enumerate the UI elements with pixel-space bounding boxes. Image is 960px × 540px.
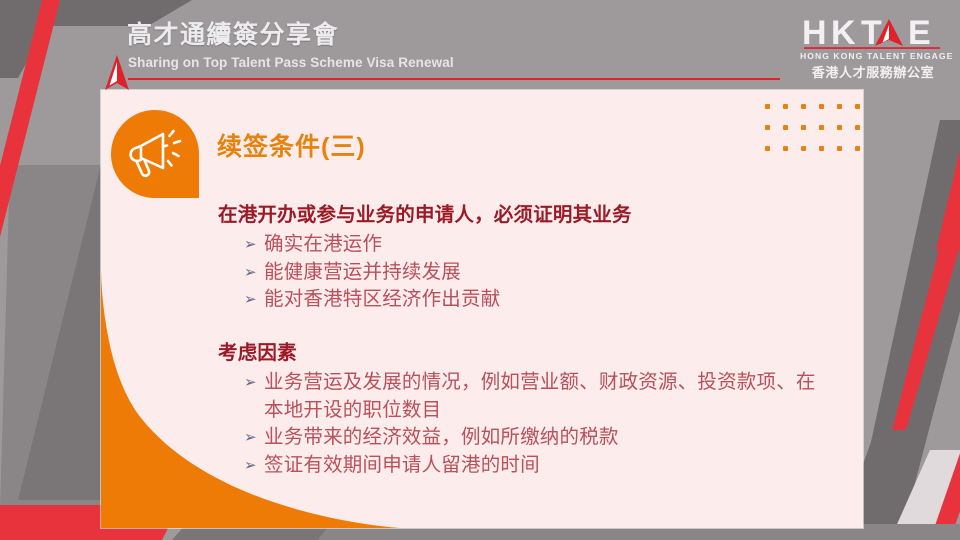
logo-wordmark: H K T E <box>800 16 946 50</box>
section-spacer <box>218 314 848 340</box>
list-item-label: 能对香港特区经济作出贡献 <box>264 288 500 310</box>
slide-title-row: 续签条件(三) <box>101 90 863 190</box>
list-item: ➢ 确实在港运作 <box>244 231 848 259</box>
section-1: 在港开办或参与业务的申请人，必须证明其业务 ➢ 确实在港运作 ➢ 能健康营运并持… <box>218 202 848 314</box>
slide-card: 续签条件(三) 在港开办或参与业务的申请人，必须证明其业务 ➢ 确实在港运作 ➢… <box>101 90 863 528</box>
bullet-list-1: ➢ 确实在港运作 ➢ 能健康营运并持续发展 ➢ 能对香港特区经济作出贡献 <box>244 231 848 314</box>
header-title: 高才通續簽分享會 <box>127 23 339 48</box>
list-item: ➢ 能健康营运并持续发展 <box>244 259 848 287</box>
red-arrow-mark-icon <box>104 54 130 92</box>
list-item: ➢ 签证有效期间申请人留港的时间 <box>244 452 819 480</box>
list-item-label: 业务带来的经济效益，例如所缴纳的税款 <box>264 426 619 448</box>
bullet-arrow-icon: ➢ <box>244 231 257 258</box>
bullet-arrow-icon: ➢ <box>244 286 257 313</box>
list-item-label: 能健康营运并持续发展 <box>264 261 461 283</box>
bullet-arrow-icon: ➢ <box>244 452 257 479</box>
section-heading: 在港开办或参与业务的申请人，必须证明其业务 <box>218 202 848 229</box>
logo-tagline-en: HONG KONG TALENT ENGAGE <box>800 52 946 61</box>
bullet-arrow-icon: ➢ <box>244 259 257 286</box>
list-item-label: 业务营运及发展的情况，例如营业额、财政资源、投资款项、在本地开设的职位数目 <box>264 371 816 421</box>
bullet-arrow-icon: ➢ <box>244 369 257 396</box>
header-subtitle: Sharing on Top Talent Pass Scheme Visa R… <box>128 56 454 70</box>
megaphone-badge <box>111 110 199 198</box>
logo-letter-t: T <box>861 16 882 50</box>
logo-letter-e: E <box>908 16 931 50</box>
list-item: ➢ 业务营运及发展的情况，例如营业额、财政资源、投资款项、在本地开设的职位数目 <box>244 369 819 424</box>
list-item: ➢ 能对香港特区经济作出贡献 <box>244 286 848 314</box>
hkte-logo: H K T E HONG KONG TALENT ENGAGE 香港人才服務辦公… <box>800 16 946 80</box>
bullet-arrow-icon: ➢ <box>244 424 257 451</box>
list-item: ➢ 业务带来的经济效益，例如所缴纳的税款 <box>244 424 819 452</box>
list-item-label: 签证有效期间申请人留港的时间 <box>264 454 540 476</box>
header-divider <box>128 78 780 80</box>
bullet-list-2: ➢ 业务营运及发展的情况，例如营业额、财政资源、投资款项、在本地开设的职位数目 … <box>244 369 848 480</box>
logo-letter-h: H <box>802 16 827 50</box>
section-heading: 考虑因素 <box>218 340 848 367</box>
slide-content: 在港开办或参与业务的申请人，必须证明其业务 ➢ 确实在港运作 ➢ 能健康营运并持… <box>218 202 848 480</box>
logo-tagline-zh: 香港人才服務辦公室 <box>800 66 946 79</box>
teardrop-shape <box>111 110 199 198</box>
logo-letter-k: K <box>831 16 856 50</box>
slide-title: 续签条件(三) <box>217 135 366 160</box>
section-2: 考虑因素 ➢ 业务营运及发展的情况，例如营业额、财政资源、投资款项、在本地开设的… <box>218 340 848 480</box>
list-item-label: 确实在港运作 <box>264 233 382 255</box>
